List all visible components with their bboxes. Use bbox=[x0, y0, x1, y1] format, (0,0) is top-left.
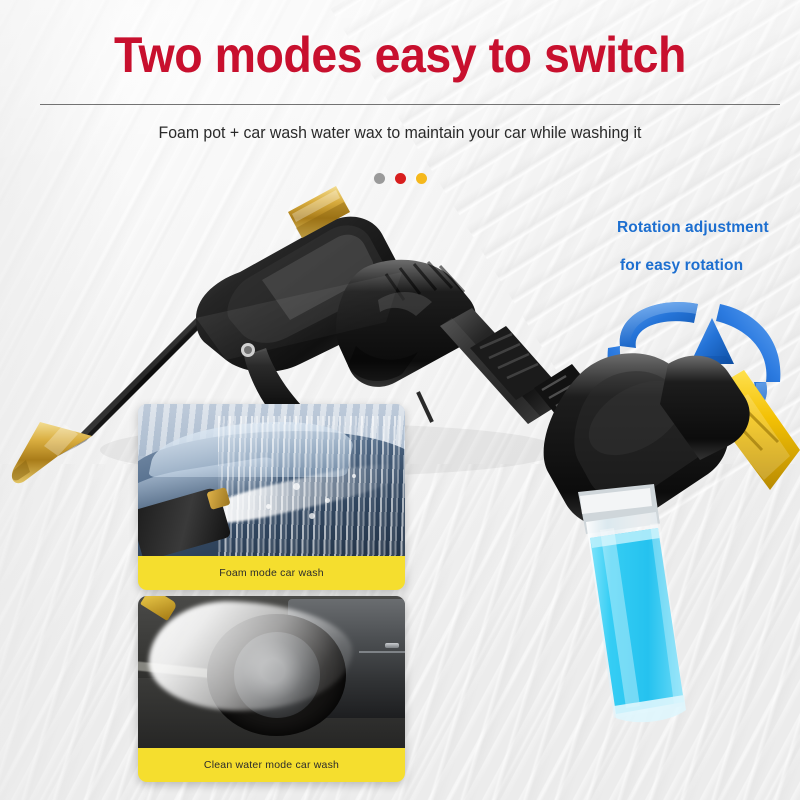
foam-bottle bbox=[578, 484, 686, 722]
header-divider bbox=[40, 104, 780, 105]
gun-brass-nozzle-tip bbox=[12, 422, 92, 483]
clean-water-mode-photo-image bbox=[138, 596, 405, 748]
clean-water-mode-photo: Clean water mode car wash bbox=[138, 596, 405, 782]
wheel-photo-door-handle bbox=[385, 643, 400, 648]
foam-mode-photo: Foam mode car wash bbox=[138, 404, 405, 590]
wheel-photo-car-trim bbox=[359, 651, 405, 653]
foam-photo-bubble bbox=[352, 474, 356, 478]
page-title: Two modes easy to switch bbox=[28, 30, 772, 80]
foam-photo-bubble bbox=[293, 483, 300, 490]
clean-water-mode-caption: Clean water mode car wash bbox=[138, 748, 405, 782]
product-banner: Two modes easy to switch Foam pot + car … bbox=[0, 0, 800, 800]
page-subtitle: Foam pot + car wash water wax to maintai… bbox=[16, 124, 784, 143]
foam-mode-photo-image bbox=[138, 404, 405, 556]
foam-mode-caption: Foam mode car wash bbox=[138, 556, 405, 590]
